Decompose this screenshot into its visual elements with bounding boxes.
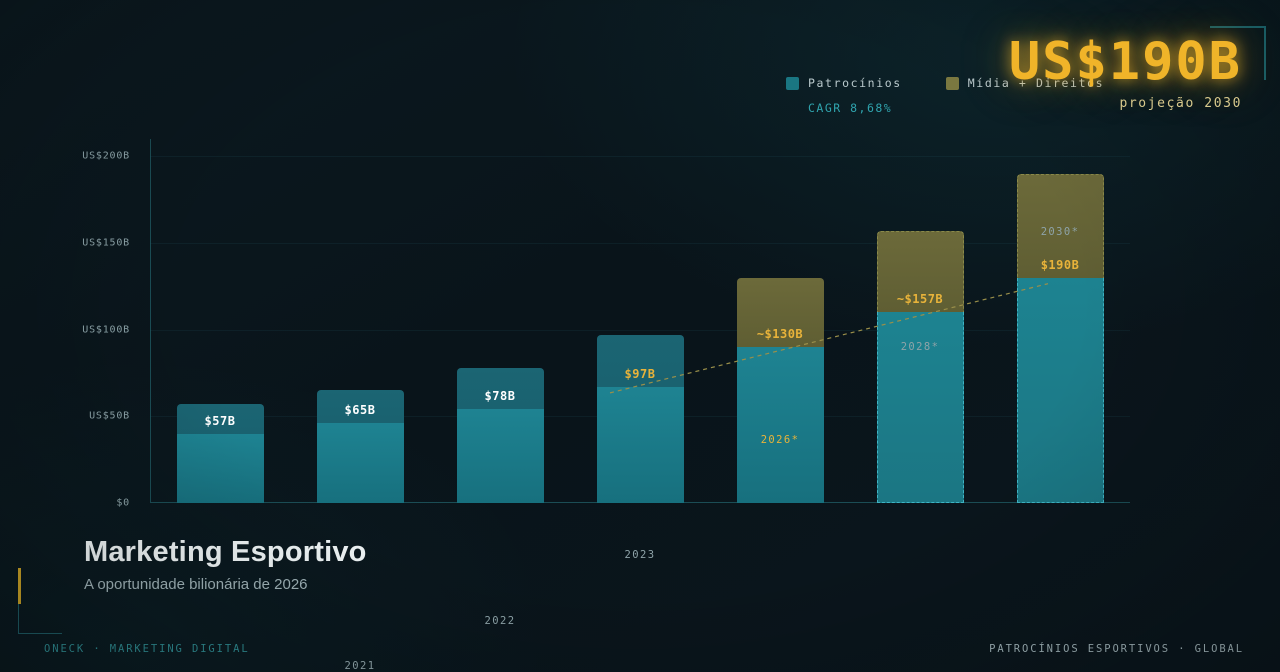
x-axis-tick-label: 2021 <box>317 642 404 672</box>
cagr-annotation: CAGR 8,68% <box>808 101 892 115</box>
bar-group[interactable]: $190B2030* <box>1017 174 1104 503</box>
bar-segment-patrocinios[interactable] <box>457 409 544 503</box>
bar-value-label: $65B <box>317 403 404 417</box>
headline-callout: US$190B projeção 2030 <box>1009 36 1242 111</box>
x-axis-tick-label: 2022 <box>457 597 544 627</box>
bar-value-label: $190B <box>1017 258 1104 272</box>
y-axis-line <box>150 139 151 503</box>
bar-segment-patrocinios[interactable] <box>177 434 264 503</box>
bar-group[interactable]: ~$157B2028* <box>877 231 964 503</box>
bar-group[interactable]: ~$130B2026* <box>737 278 824 503</box>
footer-brand: ONECK · MARKETING DIGITAL <box>44 643 250 655</box>
headline-value: US$190B <box>1009 36 1242 88</box>
gridline <box>150 243 1130 244</box>
bar-group[interactable]: $65B2021 <box>317 390 404 503</box>
bar-value-label: $97B <box>597 367 684 381</box>
x-axis-tick-label: 2026* <box>737 416 824 446</box>
bar-segment-patrocinios[interactable] <box>1017 278 1104 503</box>
bar-value-label: $57B <box>177 414 264 428</box>
bar-segment-patrocinios[interactable] <box>317 423 404 503</box>
title-block: Marketing Esportivo A oportunidade bilio… <box>84 536 367 593</box>
bar-value-label: ~$157B <box>877 292 964 306</box>
bar-group[interactable]: $97B2023 <box>597 335 684 503</box>
gridline <box>150 156 1130 157</box>
bar-segment-patrocinios[interactable] <box>597 387 684 503</box>
bar-value-label: ~$130B <box>737 327 824 341</box>
legend-label: Patrocínios <box>808 76 902 90</box>
y-axis-tick-label: $0 <box>66 498 130 509</box>
gridline <box>150 330 1130 331</box>
legend-item-patrocinios[interactable]: Patrocínios <box>786 76 902 90</box>
x-axis-tick-label: 2030* <box>1017 208 1104 238</box>
y-axis-tick-label: US$100B <box>66 324 130 335</box>
chart-plot-area: $0US$50BUS$100BUS$150BUS$200B $57B2020$6… <box>150 139 1130 503</box>
accent-bar-icon <box>18 568 21 604</box>
x-axis-tick-label: 2028* <box>877 323 964 353</box>
page-title: Marketing Esportivo <box>84 536 367 569</box>
bar-value-label: $78B <box>457 389 544 403</box>
legend-swatch-icon <box>786 77 799 90</box>
bar-group[interactable]: $57B2020 <box>177 404 264 503</box>
x-axis-tick-label: 2023 <box>597 531 684 561</box>
headline-caption: projeção 2030 <box>1009 96 1242 111</box>
y-axis-tick-label: US$200B <box>66 151 130 162</box>
y-axis-tick-label: US$150B <box>66 238 130 249</box>
bar-group[interactable]: $78B2022 <box>457 368 544 503</box>
corner-bracket-bottom-left-icon <box>18 582 62 634</box>
legend-swatch-icon <box>946 77 959 90</box>
y-axis-tick-label: US$50B <box>66 411 130 422</box>
page-subtitle: A oportunidade bilionária de 2026 <box>84 576 367 593</box>
footer-context: PATROCÍNIOS ESPORTIVOS · GLOBAL <box>989 643 1244 655</box>
